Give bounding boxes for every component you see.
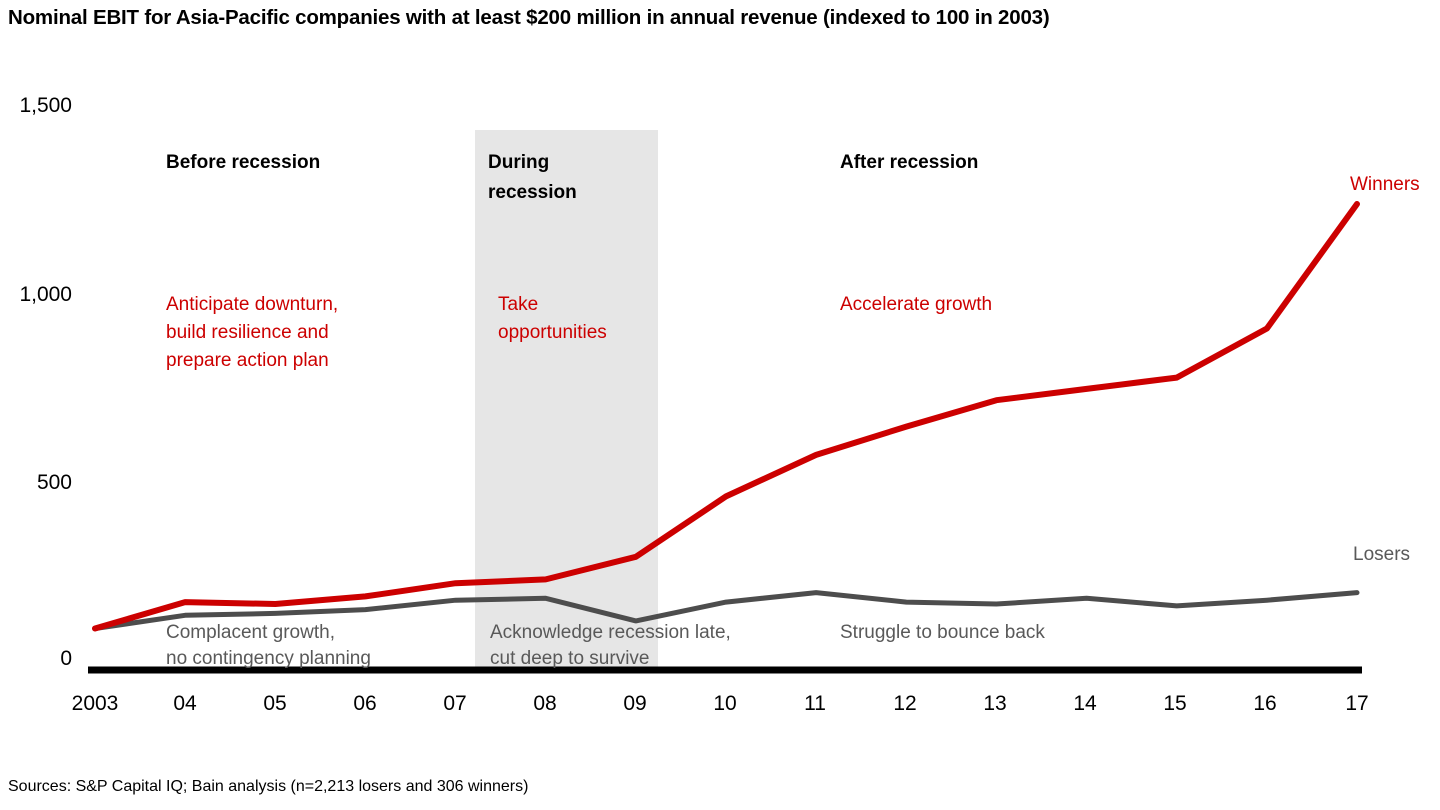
annotation-acknowledge-recession-line1: Acknowledge recession late, xyxy=(490,622,731,643)
series-label-losers: Losers xyxy=(1353,544,1410,565)
annotation-struggle-bounce-back: Struggle to bounce back xyxy=(840,622,1045,643)
annotation-complacent-growth-line1: Complacent growth, xyxy=(166,622,335,643)
annotation-acknowledge-recession-line2: cut deep to survive xyxy=(490,648,649,669)
x-axis-labels: 2003 04 05 06 07 08 09 10 11 12 13 14 15… xyxy=(72,692,1369,715)
x-tick-16: 16 xyxy=(1253,692,1276,715)
x-tick-13: 13 xyxy=(983,692,1006,715)
phase-label-before-recession: Before recession xyxy=(166,152,320,173)
annotation-accelerate-growth: Accelerate growth xyxy=(840,294,992,315)
y-tick-1000: 1,000 xyxy=(19,283,72,306)
x-tick-2003: 2003 xyxy=(72,692,119,715)
series-line-winners xyxy=(95,204,1357,629)
y-tick-500: 500 xyxy=(37,471,72,494)
y-tick-1500: 1,500 xyxy=(19,94,72,117)
recession-shaded-band xyxy=(475,130,658,670)
x-tick-08: 08 xyxy=(533,692,556,715)
x-tick-07: 07 xyxy=(443,692,466,715)
chart-container: Nominal EBIT for Asia-Pacific companies … xyxy=(0,0,1440,810)
x-tick-15: 15 xyxy=(1163,692,1186,715)
x-tick-09: 09 xyxy=(623,692,646,715)
annotation-anticipate-downturn-line3: prepare action plan xyxy=(166,350,329,371)
x-tick-17: 17 xyxy=(1345,692,1368,715)
annotation-complacent-growth-line2: no contingency planning xyxy=(166,648,371,669)
x-tick-06: 06 xyxy=(353,692,376,715)
x-tick-04: 04 xyxy=(173,692,197,715)
phase-label-during-recession-line2: recession xyxy=(488,182,577,203)
x-tick-12: 12 xyxy=(893,692,916,715)
series-label-winners: Winners xyxy=(1350,174,1420,195)
annotation-anticipate-downturn-line2: build resilience and xyxy=(166,322,329,343)
phase-label-during-recession-line1: During xyxy=(488,152,549,173)
y-tick-0: 0 xyxy=(60,647,72,670)
source-note: Sources: S&P Capital IQ; Bain analysis (… xyxy=(8,778,528,796)
x-tick-10: 10 xyxy=(713,692,736,715)
annotation-take-opportunities-line1: Take xyxy=(498,294,538,315)
x-tick-05: 05 xyxy=(263,692,286,715)
y-axis-labels: 1,500 1,000 500 0 xyxy=(19,94,72,670)
annotation-take-opportunities-line2: opportunities xyxy=(498,322,607,343)
annotation-anticipate-downturn-line1: Anticipate downturn, xyxy=(166,294,338,315)
line-chart-plot: 1,500 1,000 500 0 2003 04 05 06 07 08 09… xyxy=(0,0,1440,760)
x-tick-11: 11 xyxy=(804,692,826,715)
phase-label-after-recession: After recession xyxy=(840,152,978,173)
x-tick-14: 14 xyxy=(1073,692,1097,715)
